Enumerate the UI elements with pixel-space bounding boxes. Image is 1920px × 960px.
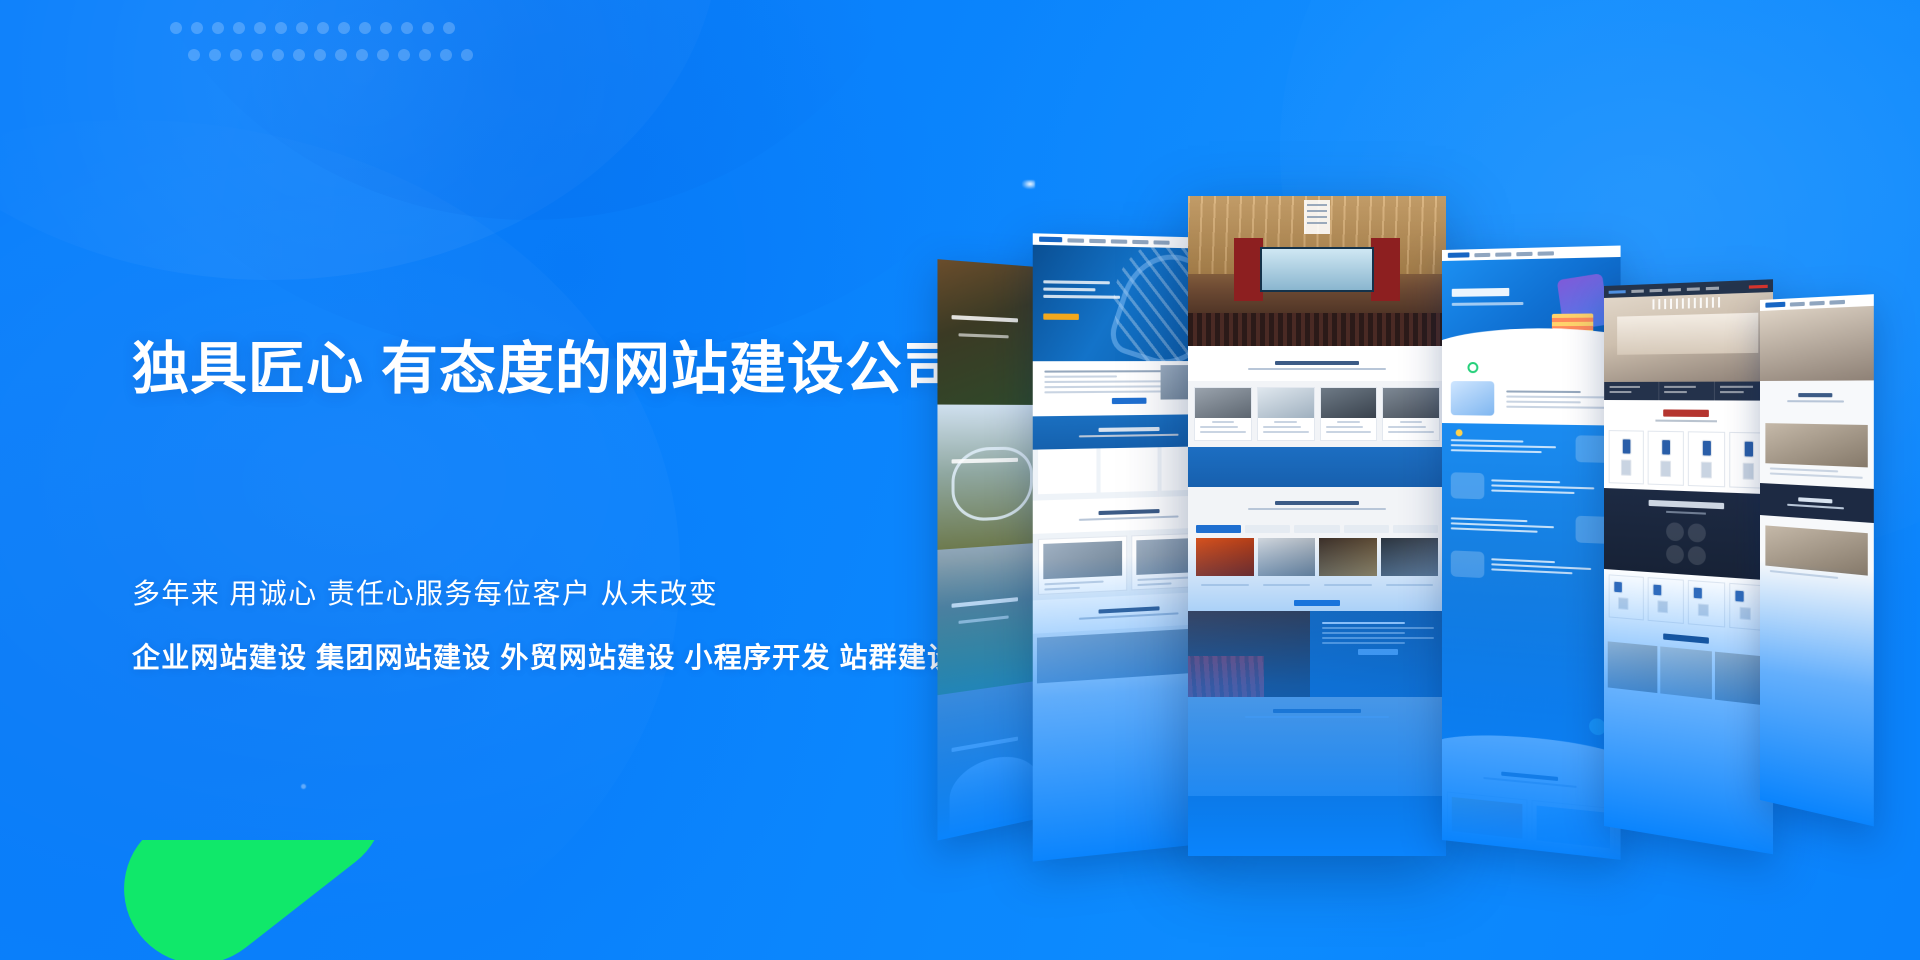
grid-dot [419, 49, 431, 61]
grid-dot [230, 49, 242, 61]
grid-dot [380, 22, 392, 34]
grid-dot [209, 49, 221, 61]
grid-dot [251, 49, 263, 61]
grid-dot [377, 49, 389, 61]
grid-dot [233, 22, 245, 34]
mockup-screen-auditorium [1188, 196, 1446, 856]
grid-dot [272, 49, 284, 61]
mockup-screen-interior-showroom [1760, 294, 1874, 826]
grid-dot [170, 22, 182, 34]
speck-dot [301, 784, 306, 789]
grid-dot [398, 49, 410, 61]
green-accent-shape [0, 840, 520, 960]
grid-dot [356, 49, 368, 61]
grid-dot [188, 49, 200, 61]
hero-banner: 独具匠心 有态度的网站建设公司 多年来 用诚心 责任心服务每位客户 从未改变 企… [0, 0, 1920, 960]
green-rounded-bar [94, 840, 415, 960]
subheadline-block: 多年来 用诚心 责任心服务每位客户 从未改变 企业网站建设 集团网站建设 外贸网… [132, 580, 1032, 708]
mockup-screen-luxury-interior-design [1604, 279, 1773, 854]
grid-dot [461, 49, 473, 61]
grid-dot [317, 22, 329, 34]
grid-dot [293, 49, 305, 61]
mockup-screen-english-education [1442, 246, 1621, 860]
subline-services: 企业网站建设 集团网站建设 外贸网站建设 小程序开发 站群建设 [132, 644, 1032, 672]
headline-block: 独具匠心 有态度的网站建设公司 [132, 336, 972, 403]
grid-dot [335, 49, 347, 61]
grid-dot [212, 22, 224, 34]
grid-dot [191, 22, 203, 34]
grid-dot [443, 22, 455, 34]
grid-dot [296, 22, 308, 34]
dot-grid-pattern [170, 22, 470, 74]
grid-dot [338, 22, 350, 34]
grid-dot [314, 49, 326, 61]
grid-dot [401, 22, 413, 34]
grid-dot [275, 22, 287, 34]
subline-promise: 多年来 用诚心 责任心服务每位客户 从未改变 [132, 580, 1032, 608]
website-mockup-collage [926, 0, 1920, 960]
grid-dot [254, 22, 266, 34]
page-title: 独具匠心 有态度的网站建设公司 [132, 336, 972, 403]
grid-dot [422, 22, 434, 34]
grid-dot [440, 49, 452, 61]
grid-dot [359, 22, 371, 34]
